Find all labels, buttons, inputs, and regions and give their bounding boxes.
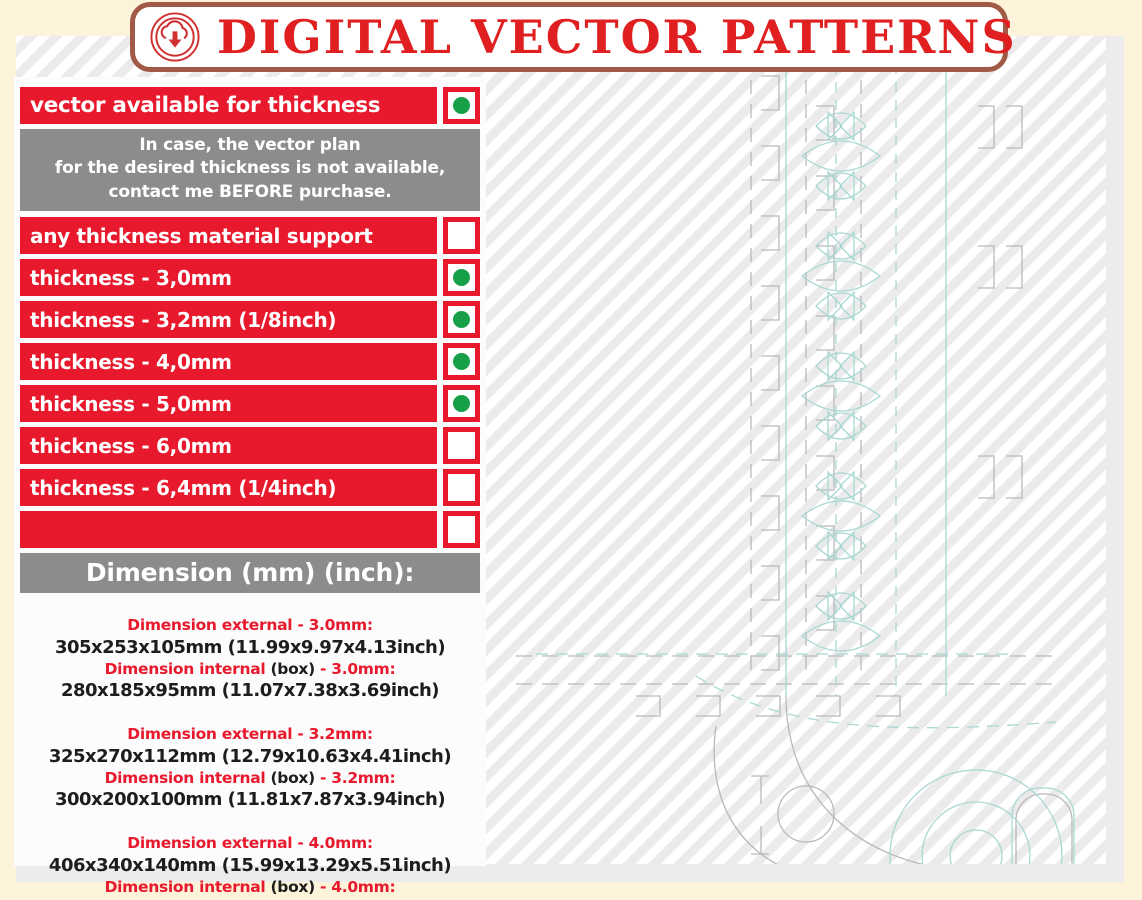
dimension-internal-title-b: - 4.0mm: <box>315 878 395 896</box>
dimension-internal-title-b: - 3.2mm: <box>315 769 395 787</box>
thickness-row-indicator <box>443 385 480 422</box>
availability-note: In case, the vector plan for the desired… <box>20 129 480 211</box>
dimension-internal-title-box: (box) <box>265 769 315 787</box>
thickness-row: thickness - 3,0mm <box>20 259 480 296</box>
empty-dot-icon <box>453 479 470 496</box>
thickness-row-label: thickness - 3,0mm <box>20 259 437 296</box>
thickness-row-label: thickness - 6,0mm <box>20 427 437 464</box>
green-dot-icon <box>453 97 470 114</box>
availability-heading-row: vector available for thickness <box>20 87 480 124</box>
dimension-external-title: Dimension external - 3.0mm: <box>26 615 474 635</box>
dimension-group: Dimension external - 3.2mm: 325x270x112m… <box>26 724 474 811</box>
thickness-row: thickness - 4,0mm <box>20 343 480 380</box>
product-info-panel: vector available for thickness In case, … <box>14 77 486 866</box>
note-line-2: for the desired thickness is not availab… <box>26 157 474 180</box>
dimension-external-value: 305x253x105mm (11.99x9.97x4.13inch) <box>26 636 474 659</box>
availability-heading-label: vector available for thickness <box>20 87 437 124</box>
thickness-row-indicator <box>443 427 480 464</box>
dimension-external-value: 406x340x140mm (15.99x13.29x5.51inch) <box>26 854 474 877</box>
thickness-row-indicator <box>443 469 480 506</box>
thickness-row: thickness - 6,4mm (1/4inch) <box>20 469 480 506</box>
dimension-internal-title: Dimension internal (box) - 3.2mm: <box>26 768 474 788</box>
thickness-row-indicator <box>443 217 480 254</box>
dimension-internal-title-a: Dimension internal <box>105 660 266 678</box>
dimension-internal-value: 300x200x100mm (11.81x7.87x3.94inch) <box>26 788 474 811</box>
title-banner: DIGITAL VECTOR PATTERNS <box>130 2 1008 72</box>
empty-dot-icon <box>453 227 470 244</box>
dimension-section-header: Dimension (mm) (inch): <box>20 553 480 593</box>
dimension-internal-title: Dimension internal (box) - 3.0mm: <box>26 659 474 679</box>
empty-dot-icon <box>453 521 470 538</box>
empty-dot-icon <box>453 437 470 454</box>
thickness-row-label: thickness - 5,0mm <box>20 385 437 422</box>
thickness-row-blank <box>20 511 480 548</box>
dimension-internal-title-box: (box) <box>265 660 315 678</box>
thickness-row: thickness - 6,0mm <box>20 427 480 464</box>
thickness-row-indicator <box>443 511 480 548</box>
dimension-list: Dimension external - 3.0mm: 305x253x105m… <box>20 615 480 900</box>
thickness-row-label: thickness - 6,4mm (1/4inch) <box>20 469 437 506</box>
dimension-internal-value: 280x185x95mm (11.07x7.38x3.69inch) <box>26 679 474 702</box>
dimension-external-title: Dimension external - 4.0mm: <box>26 833 474 853</box>
dimension-internal-title-a: Dimension internal <box>105 769 266 787</box>
page-title: DIGITAL VECTOR PATTERNS <box>217 14 1017 60</box>
dimension-group: Dimension external - 3.0mm: 305x253x105m… <box>26 615 474 702</box>
thickness-row-indicator <box>443 301 480 338</box>
poster-root: vector available for thickness In case, … <box>0 0 1142 900</box>
green-dot-icon <box>453 269 470 286</box>
thickness-row-indicator <box>443 259 480 296</box>
dimension-internal-title-a: Dimension internal <box>105 878 266 896</box>
dimension-external-value: 325x270x112mm (12.79x10.63x4.41inch) <box>26 745 474 768</box>
note-line-3: contact me BEFORE purchase. <box>26 181 474 204</box>
dimension-internal-title-b: - 3.0mm: <box>315 660 395 678</box>
green-dot-icon <box>453 353 470 370</box>
thickness-row-label: thickness - 3,2mm (1/8inch) <box>20 301 437 338</box>
cloud-download-icon <box>149 11 201 63</box>
green-dot-icon <box>453 311 470 328</box>
dimension-internal-title-box: (box) <box>265 878 315 896</box>
thickness-row: thickness - 5,0mm <box>20 385 480 422</box>
thickness-row-indicator <box>443 343 480 380</box>
thickness-row-label: thickness - 4,0mm <box>20 343 437 380</box>
green-dot-icon <box>453 395 470 412</box>
dimension-group: Dimension external - 4.0mm: 406x340x140m… <box>26 833 474 900</box>
thickness-row-label <box>20 511 437 548</box>
dimension-internal-title: Dimension internal (box) - 4.0mm: <box>26 877 474 897</box>
dimension-external-title: Dimension external - 3.2mm: <box>26 724 474 744</box>
availability-heading-indicator <box>443 87 480 124</box>
thickness-row-label: any thickness material support <box>20 217 437 254</box>
thickness-row: any thickness material support <box>20 217 480 254</box>
thickness-row: thickness - 3,2mm (1/8inch) <box>20 301 480 338</box>
note-line-1: In case, the vector plan <box>26 134 474 157</box>
